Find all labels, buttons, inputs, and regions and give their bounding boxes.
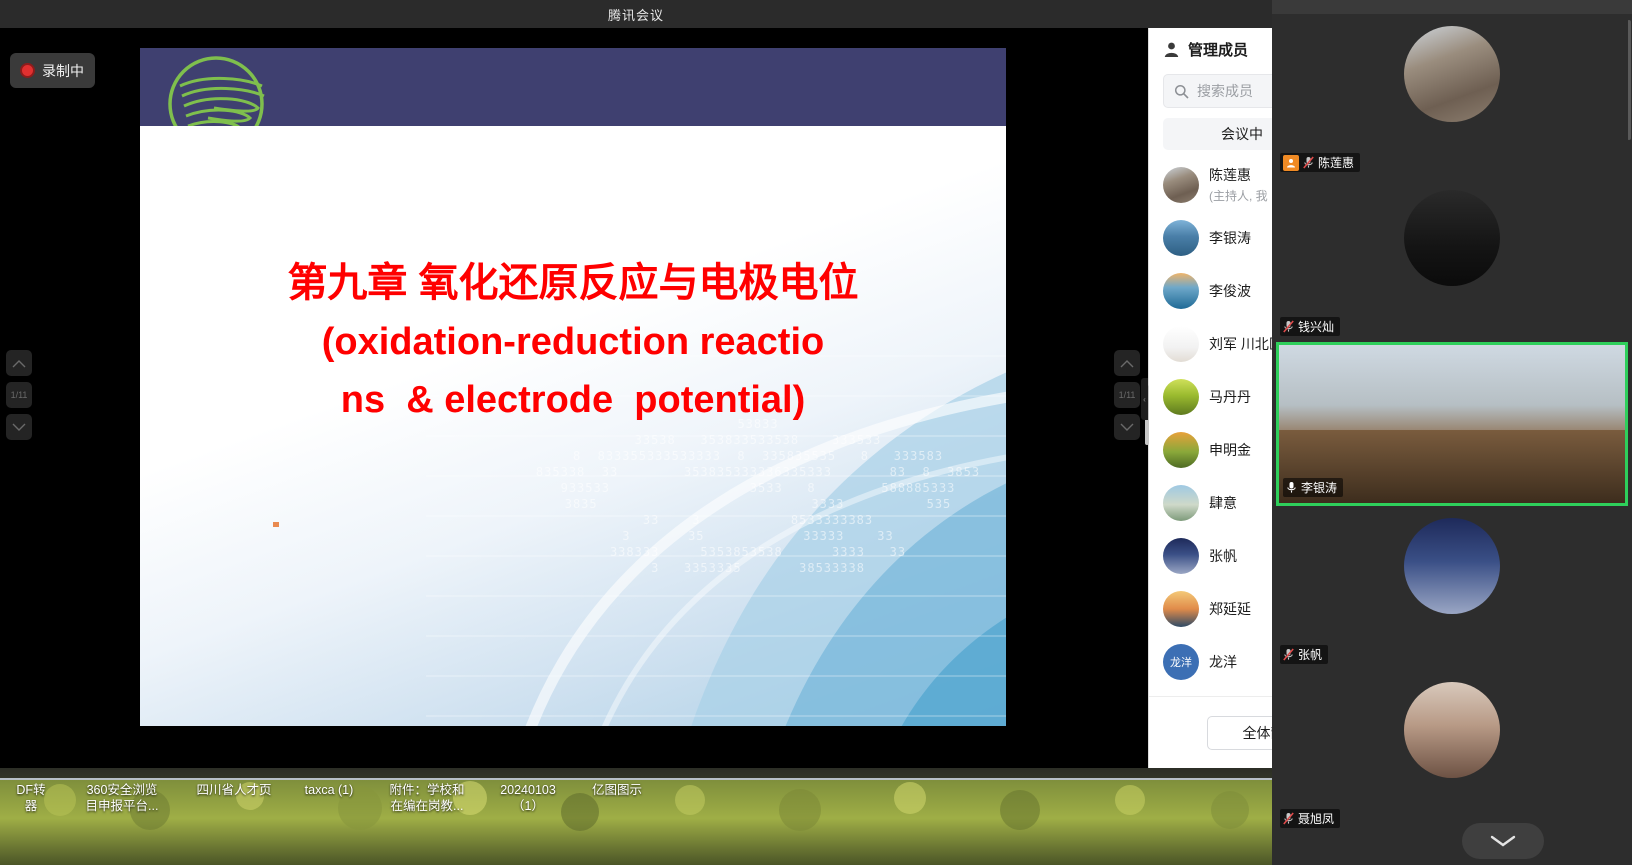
- participant-name-wrap: 李银涛: [1209, 228, 1251, 248]
- slide-title: 第九章 氧化还原反应与电极电位 (oxidation-reduction rea…: [200, 253, 946, 429]
- shared-slide: 53833 33538 353833533538 333533 8 833355…: [140, 48, 1006, 726]
- participant-name: 李银涛: [1209, 228, 1251, 248]
- video-tile-name: 钱兴灿: [1298, 318, 1334, 335]
- participant-name-wrap: 张帆: [1209, 546, 1237, 566]
- avatar: [1163, 485, 1199, 521]
- participant-name: 郑延延: [1209, 599, 1251, 619]
- app-title: 腾讯会议: [608, 5, 664, 24]
- avatar: [1163, 326, 1199, 362]
- participant-name-wrap: 龙洋: [1209, 652, 1237, 672]
- mic-muted-icon: [1283, 320, 1294, 333]
- avatar: [1163, 538, 1199, 574]
- mic-muted-icon: [1283, 812, 1294, 825]
- taskbar-item[interactable]: 20240103 （1）: [482, 782, 574, 814]
- page-indicator: 1/11: [1114, 382, 1140, 408]
- video-tile[interactable]: 聂旭凤: [1276, 670, 1628, 834]
- avatar: [1163, 273, 1199, 309]
- page-indicator: 1/11: [6, 382, 32, 408]
- video-tile-name: 聂旭凤: [1298, 810, 1334, 827]
- participant-name-wrap: 肆意: [1209, 493, 1237, 513]
- taskbar-item[interactable]: 亿图图示: [574, 782, 660, 814]
- participants-title: 管理成员: [1188, 39, 1248, 60]
- video-tile-name: 李银涛: [1301, 479, 1337, 496]
- search-icon: [1174, 84, 1189, 99]
- avatar: [1404, 26, 1500, 122]
- participant-name-wrap: 陈莲惠(主持人, 我: [1209, 165, 1268, 204]
- taskbar-hairline: [0, 778, 1272, 780]
- window-title-bar: 腾讯会议: [0, 0, 1272, 28]
- mic-muted-icon: [1303, 156, 1314, 169]
- video-tile-label: 钱兴灿: [1280, 317, 1340, 336]
- participant-name: 马丹丹: [1209, 387, 1251, 407]
- record-dot-icon: [20, 63, 35, 78]
- mic-on-icon: [1286, 481, 1297, 494]
- slide-title-line-1: 第九章 氧化还原反应与电极电位: [200, 253, 946, 314]
- strip-top-bar: [1272, 0, 1632, 14]
- participant-name-wrap: 郑延延: [1209, 599, 1251, 619]
- panel-collapse-handle[interactable]: ‹: [1141, 378, 1148, 420]
- right-page-nav: 1/11: [1114, 350, 1140, 440]
- chevron-down-icon: [1490, 834, 1516, 848]
- mic-muted-icon: [1283, 648, 1294, 661]
- avatar: [1163, 167, 1199, 203]
- participant-name: 李俊波: [1209, 281, 1251, 301]
- search-placeholder: 搜索成员: [1197, 81, 1253, 101]
- taskbar-items: DF转 器360安全浏览 目申报平台...四川省人才页taxca (1)附件：学…: [0, 782, 1272, 814]
- page-down-button[interactable]: [1114, 414, 1140, 440]
- participant-name-wrap: 李俊波: [1209, 281, 1251, 301]
- taskbar-item[interactable]: 附件：学校和 在编在岗教...: [372, 782, 482, 814]
- avatar: [1163, 591, 1199, 627]
- participant-name: 申明金: [1209, 440, 1251, 460]
- taskbar-item[interactable]: 四川省人才页: [182, 782, 286, 814]
- participant-name: 张帆: [1209, 546, 1237, 566]
- tab-in-meeting-label: 会议中: [1221, 124, 1263, 144]
- recording-indicator[interactable]: 录制中: [10, 53, 95, 88]
- participant-name: 龙洋: [1209, 652, 1237, 672]
- slide-title-line-2: (oxidation-reduction reactio: [200, 314, 946, 372]
- page-up-button[interactable]: [6, 350, 32, 376]
- taskbar-item[interactable]: taxca (1): [286, 782, 372, 814]
- avatar: 龙洋: [1163, 644, 1199, 680]
- participant-name: 陈莲惠: [1209, 165, 1268, 185]
- participant-name-wrap: 马丹丹: [1209, 387, 1251, 407]
- video-tile-name: 张帆: [1298, 646, 1322, 663]
- avatar: [1404, 518, 1500, 614]
- recording-label: 录制中: [42, 61, 84, 81]
- participant-role: (主持人, 我: [1209, 187, 1268, 204]
- people-icon: [1163, 41, 1180, 58]
- video-tile[interactable]: 钱兴灿: [1276, 178, 1628, 342]
- avatar: [1163, 220, 1199, 256]
- slide-title-line-3: ns & electrode potential): [200, 372, 946, 430]
- video-tile[interactable]: 张帆: [1276, 506, 1628, 670]
- avatar: [1163, 379, 1199, 415]
- video-tile-label: 李银涛: [1283, 478, 1343, 497]
- video-tile[interactable]: 陈莲惠: [1276, 14, 1628, 178]
- taskbar-item[interactable]: 360安全浏览 目申报平台...: [62, 782, 182, 814]
- avatar: [1163, 432, 1199, 468]
- video-tile-label: 张帆: [1280, 645, 1328, 664]
- slide-marker-dot: [273, 522, 279, 527]
- host-badge-icon: [1283, 155, 1299, 171]
- video-tile-label: 陈莲惠: [1280, 153, 1360, 172]
- screen-root: 腾讯会议 录制中 1/11 1/11: [0, 0, 1632, 865]
- avatar: [1404, 682, 1500, 778]
- collapse-strip-button[interactable]: [1462, 823, 1544, 859]
- video-tile[interactable]: 李银涛: [1276, 342, 1628, 506]
- video-thumbnail-strip: 陈莲惠钱兴灿李银涛张帆聂旭凤: [1272, 0, 1632, 865]
- page-down-button[interactable]: [6, 414, 32, 440]
- participant-name: 肆意: [1209, 493, 1237, 513]
- tencent-meeting-window: 腾讯会议 录制中 1/11 1/11: [0, 0, 1272, 865]
- video-tile-label: 聂旭凤: [1280, 809, 1340, 828]
- left-page-nav: 1/11: [6, 350, 32, 440]
- page-up-button[interactable]: [1114, 350, 1140, 376]
- participant-name-wrap: 申明金: [1209, 440, 1251, 460]
- video-tile-name: 陈莲惠: [1318, 154, 1354, 171]
- avatar: [1404, 190, 1500, 286]
- taskbar-item[interactable]: DF转 器: [0, 782, 62, 814]
- windows-taskbar: DF转 器360安全浏览 目申报平台...四川省人才页taxca (1)附件：学…: [0, 768, 1272, 865]
